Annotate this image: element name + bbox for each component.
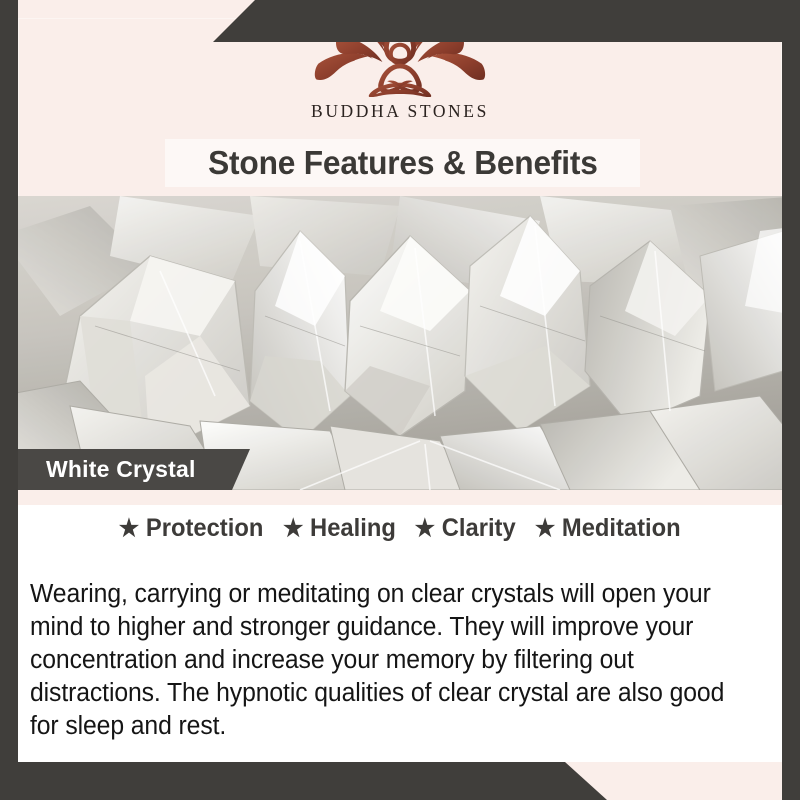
benefit-label: Meditation <box>562 514 681 543</box>
content-section: ★ Protection ★ Healing ★ Clarity ★ Medit… <box>0 490 800 800</box>
stone-name-label: White Crystal <box>46 456 196 483</box>
star-icon: ★ <box>415 517 435 541</box>
benefit-item-clarity: ★ Clarity <box>415 514 516 543</box>
frame-border-right <box>782 0 800 800</box>
benefit-label: Healing <box>310 514 396 543</box>
accent-strip <box>18 490 782 505</box>
star-icon: ★ <box>535 517 555 541</box>
benefits-list: ★ Protection ★ Healing ★ Clarity ★ Medit… <box>18 514 782 543</box>
benefit-item-protection: ★ Protection <box>119 514 264 543</box>
stone-features-card: BUDDHA STONES <box>0 0 800 800</box>
stone-name-banner: White Crystal <box>18 449 250 490</box>
description-text: Wearing, carrying or meditating on clear… <box>30 578 742 743</box>
benefit-item-meditation: ★ Meditation <box>535 514 681 543</box>
star-icon: ★ <box>283 517 303 541</box>
benefit-label: Clarity <box>442 514 516 543</box>
benefit-item-healing: ★ Healing <box>283 514 396 543</box>
brand-name: BUDDHA STONES <box>311 101 489 122</box>
page-title-banner: Stone Features & Benefits <box>165 139 640 187</box>
frame-border-left <box>0 0 18 800</box>
star-icon: ★ <box>119 517 139 541</box>
benefit-label: Protection <box>146 514 263 543</box>
white-crystal-cluster-photo <box>0 196 800 490</box>
page-title: Stone Features & Benefits <box>208 144 598 182</box>
